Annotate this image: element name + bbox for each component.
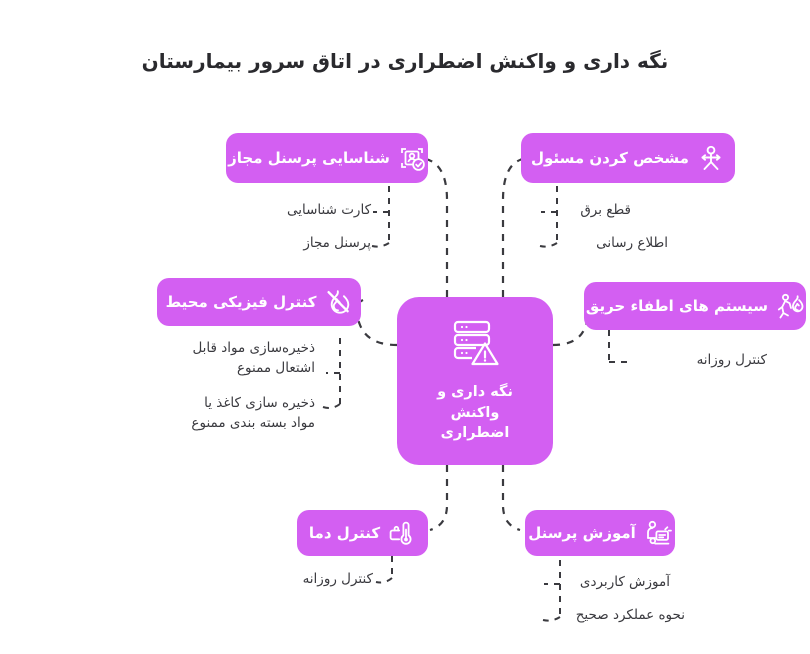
sublink-physical-control-1 — [323, 404, 340, 408]
id-card-verified-icon — [398, 144, 426, 172]
branch-node-fire-suppression[interactable]: سیستم های اطفاء حریق — [584, 282, 806, 330]
branch-node-physical-control[interactable]: کنترل فیزیکی محیط — [157, 278, 361, 326]
link-center-staff-training — [503, 465, 520, 530]
no-fire-icon — [324, 288, 352, 316]
branch-node-staff-training[interactable]: آموزش پرسنل — [525, 510, 675, 556]
training-presentation-icon — [644, 519, 672, 547]
thermometer-icon — [388, 519, 416, 547]
person-icon — [697, 144, 725, 172]
page-title: نگه داری و واکنش اضطراری در اتاق سرور بی… — [0, 48, 810, 74]
branch-node-temperature[interactable]: کنترل دما — [297, 510, 428, 556]
mindmap-canvas: نگه داری و واکنش اضطراری در اتاق سرور بی… — [0, 0, 810, 654]
branch-label-staff-training: آموزش پرسنل — [528, 524, 636, 542]
fire-escape-icon — [776, 292, 804, 320]
link-center-fire-suppression — [553, 303, 588, 345]
leaf-staff-training-0: آموزش کاربردی — [535, 573, 670, 593]
leaf-physical-control-1: ذخیره سازی کاغذ یا مواد بسته بندی ممنوع — [150, 394, 315, 433]
leaf-physical-control-0: ذخیره‌سازی مواد قابل اشتعال ممنوع — [160, 339, 315, 378]
leaf-identify-personnel-1: پرسنل مجاز — [246, 234, 371, 254]
branch-label-fire-suppression: سیستم های اطفاء حریق — [586, 297, 768, 315]
branch-node-assign-responsible[interactable]: مشخص کردن مسئول — [521, 133, 735, 183]
branch-node-identify-personnel[interactable]: شناسایی پرسنل مجاز — [226, 133, 428, 183]
link-center-temperature — [430, 465, 447, 530]
sublink-identify-personnel-1 — [372, 243, 389, 247]
leaf-assign-responsible-0: قطع برق — [513, 201, 631, 221]
leaf-staff-training-1: نحوه عملکرد صحیح — [525, 606, 685, 626]
branch-label-physical-control: کنترل فیزیکی محیط — [166, 293, 317, 311]
branch-label-assign-responsible: مشخص کردن مسئول — [531, 149, 689, 167]
server-warning-icon — [449, 318, 501, 372]
leaf-fire-suppression-0: کنترل روزانه — [637, 351, 767, 371]
central-node-label: نگه داری و واکنش اضطراری — [415, 382, 535, 444]
leaf-identify-personnel-0: کارت شناسایی — [246, 201, 371, 221]
sublink-temperature-0 — [376, 578, 392, 583]
leaf-assign-responsible-1: اطلاع رسانی — [513, 234, 668, 254]
central-node[interactable]: نگه داری و واکنش اضطراری — [397, 297, 553, 465]
link-center-physical-control — [357, 300, 397, 345]
leaf-temperature-0: کنترل روزانه — [283, 570, 373, 590]
branch-label-temperature: کنترل دما — [309, 524, 380, 542]
branch-label-identify-personnel: شناسایی پرسنل مجاز — [228, 149, 390, 167]
